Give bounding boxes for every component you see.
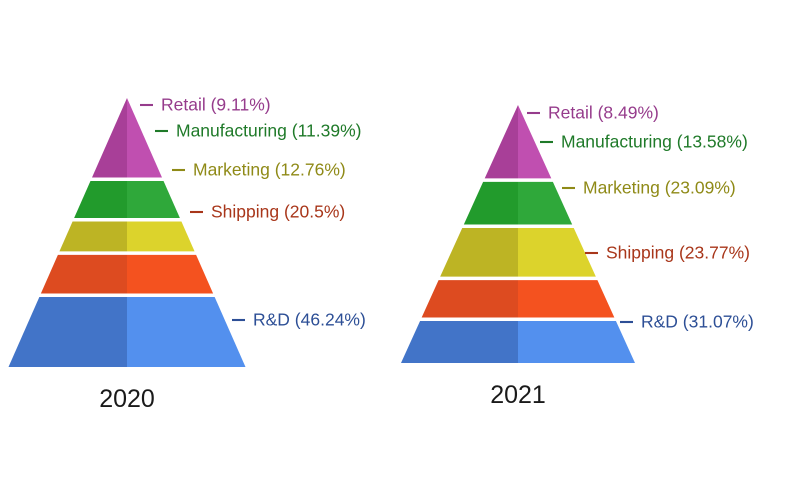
pyramid-segment[interactable] xyxy=(92,98,162,177)
pyramid-segment[interactable] xyxy=(59,222,194,252)
pyramid-segment[interactable] xyxy=(401,321,635,363)
segment-right-face xyxy=(518,321,635,363)
segment-label: Retail (9.11%) xyxy=(161,95,271,115)
segment-right-face xyxy=(127,255,213,294)
segment-left-face xyxy=(464,182,518,225)
segment-right-face xyxy=(518,280,614,317)
segment-label: Shipping (20.5%) xyxy=(211,202,345,222)
pyramid-segment[interactable] xyxy=(464,182,572,225)
pyramid-year-label: 2021 xyxy=(490,381,546,409)
pyramid-segment[interactable] xyxy=(74,181,180,218)
pyramid-year-label: 2020 xyxy=(99,385,155,413)
segment-right-face xyxy=(518,228,596,277)
segment-label: Manufacturing (11.39%) xyxy=(176,121,361,141)
segment-left-face xyxy=(440,228,518,277)
segment-left-face xyxy=(422,280,518,317)
segment-left-face xyxy=(74,181,127,218)
segment-left-face xyxy=(9,297,128,367)
segment-right-face xyxy=(127,181,180,218)
segment-left-face xyxy=(92,98,127,177)
segment-label: Manufacturing (13.58%) xyxy=(561,132,748,152)
pyramid-segment[interactable] xyxy=(41,255,213,294)
segment-label: Retail (8.49%) xyxy=(548,103,659,123)
segment-label: Marketing (12.76%) xyxy=(193,160,346,180)
segment-right-face xyxy=(127,98,162,177)
segment-right-face xyxy=(127,297,246,367)
pyramid-chart-root: Retail (9.11%)Manufacturing (11.39%)Mark… xyxy=(0,0,800,494)
pyramid-segment[interactable] xyxy=(422,280,615,317)
pyramid-segment[interactable] xyxy=(440,228,596,277)
pyramid-2020[interactable]: Retail (9.11%)Manufacturing (11.39%)Mark… xyxy=(9,95,366,413)
pyramid-chart-svg: Retail (9.11%)Manufacturing (11.39%)Mark… xyxy=(0,0,800,494)
segment-left-face xyxy=(401,321,518,363)
segment-label: Marketing (23.09%) xyxy=(583,178,736,198)
pyramid-segment[interactable] xyxy=(9,297,246,367)
segment-label: Shipping (23.77%) xyxy=(606,243,750,263)
segment-left-face xyxy=(59,222,127,252)
segment-right-face xyxy=(127,222,195,252)
pyramid-2021[interactable]: Retail (8.49%)Manufacturing (13.58%)Mark… xyxy=(401,103,754,409)
segment-label: R&D (46.24%) xyxy=(253,310,366,330)
segment-left-face xyxy=(485,105,518,178)
segment-left-face xyxy=(41,255,127,294)
segment-label: R&D (31.07%) xyxy=(641,312,754,332)
